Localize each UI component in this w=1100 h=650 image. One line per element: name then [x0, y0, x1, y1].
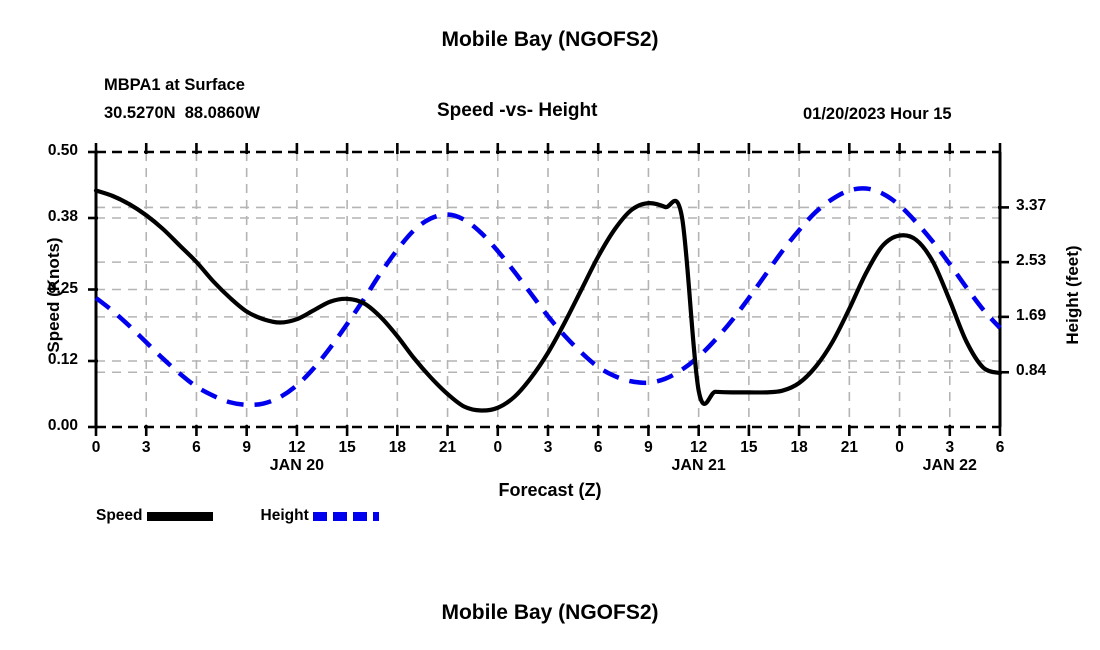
- legend-label-speed: Speed: [96, 507, 143, 525]
- day-label-jan-20: JAN 20: [237, 457, 357, 475]
- y-tick-left-0.25: 0.25: [18, 280, 78, 298]
- x-tick-8: 0: [478, 439, 518, 457]
- chart-legend: Speed Height: [96, 503, 379, 529]
- plot-area: [0, 0, 1100, 650]
- y-tick-left-0.50: 0.50: [18, 142, 78, 160]
- x-tick-3: 9: [227, 439, 267, 457]
- y-tick-right-0.84: 0.84: [1016, 362, 1076, 380]
- day-label-jan-22: JAN 22: [890, 457, 1010, 475]
- legend-swatch-speed-icon: [147, 512, 213, 521]
- y-tick-right-1.69: 1.69: [1016, 307, 1076, 325]
- y-tick-right-2.53: 2.53: [1016, 252, 1076, 270]
- legend-label-height: Height: [261, 507, 309, 525]
- x-tick-16: 0: [880, 439, 920, 457]
- x-tick-12: 12: [679, 439, 719, 457]
- x-tick-0: 0: [76, 439, 116, 457]
- y-tick-left-0.38: 0.38: [18, 208, 78, 226]
- x-tick-13: 15: [729, 439, 769, 457]
- x-tick-14: 18: [779, 439, 819, 457]
- x-tick-6: 18: [377, 439, 417, 457]
- x-tick-1: 3: [126, 439, 166, 457]
- day-label-jan-21: JAN 21: [639, 457, 759, 475]
- x-tick-4: 12: [277, 439, 317, 457]
- x-tick-5: 15: [327, 439, 367, 457]
- x-tick-17: 3: [930, 439, 970, 457]
- legend-swatch-height-icon: [313, 512, 379, 521]
- x-tick-9: 3: [528, 439, 568, 457]
- x-tick-10: 6: [578, 439, 618, 457]
- y-tick-left-0.00: 0.00: [18, 417, 78, 435]
- y-tick-left-0.12: 0.12: [18, 351, 78, 369]
- legend-entry-speed: Speed: [96, 507, 213, 525]
- x-tick-11: 9: [628, 439, 668, 457]
- page-title-bottom: Mobile Bay (NGOFS2): [0, 601, 1100, 625]
- legend-entry-height: Height: [261, 507, 379, 525]
- x-tick-15: 21: [829, 439, 869, 457]
- y-tick-right-3.37: 3.37: [1016, 197, 1076, 215]
- x-tick-18: 6: [980, 439, 1020, 457]
- x-tick-7: 21: [428, 439, 468, 457]
- x-tick-2: 6: [176, 439, 216, 457]
- chart-page: Mobile Bay (NGOFS2) MBPA1 at Surface 30.…: [0, 0, 1100, 650]
